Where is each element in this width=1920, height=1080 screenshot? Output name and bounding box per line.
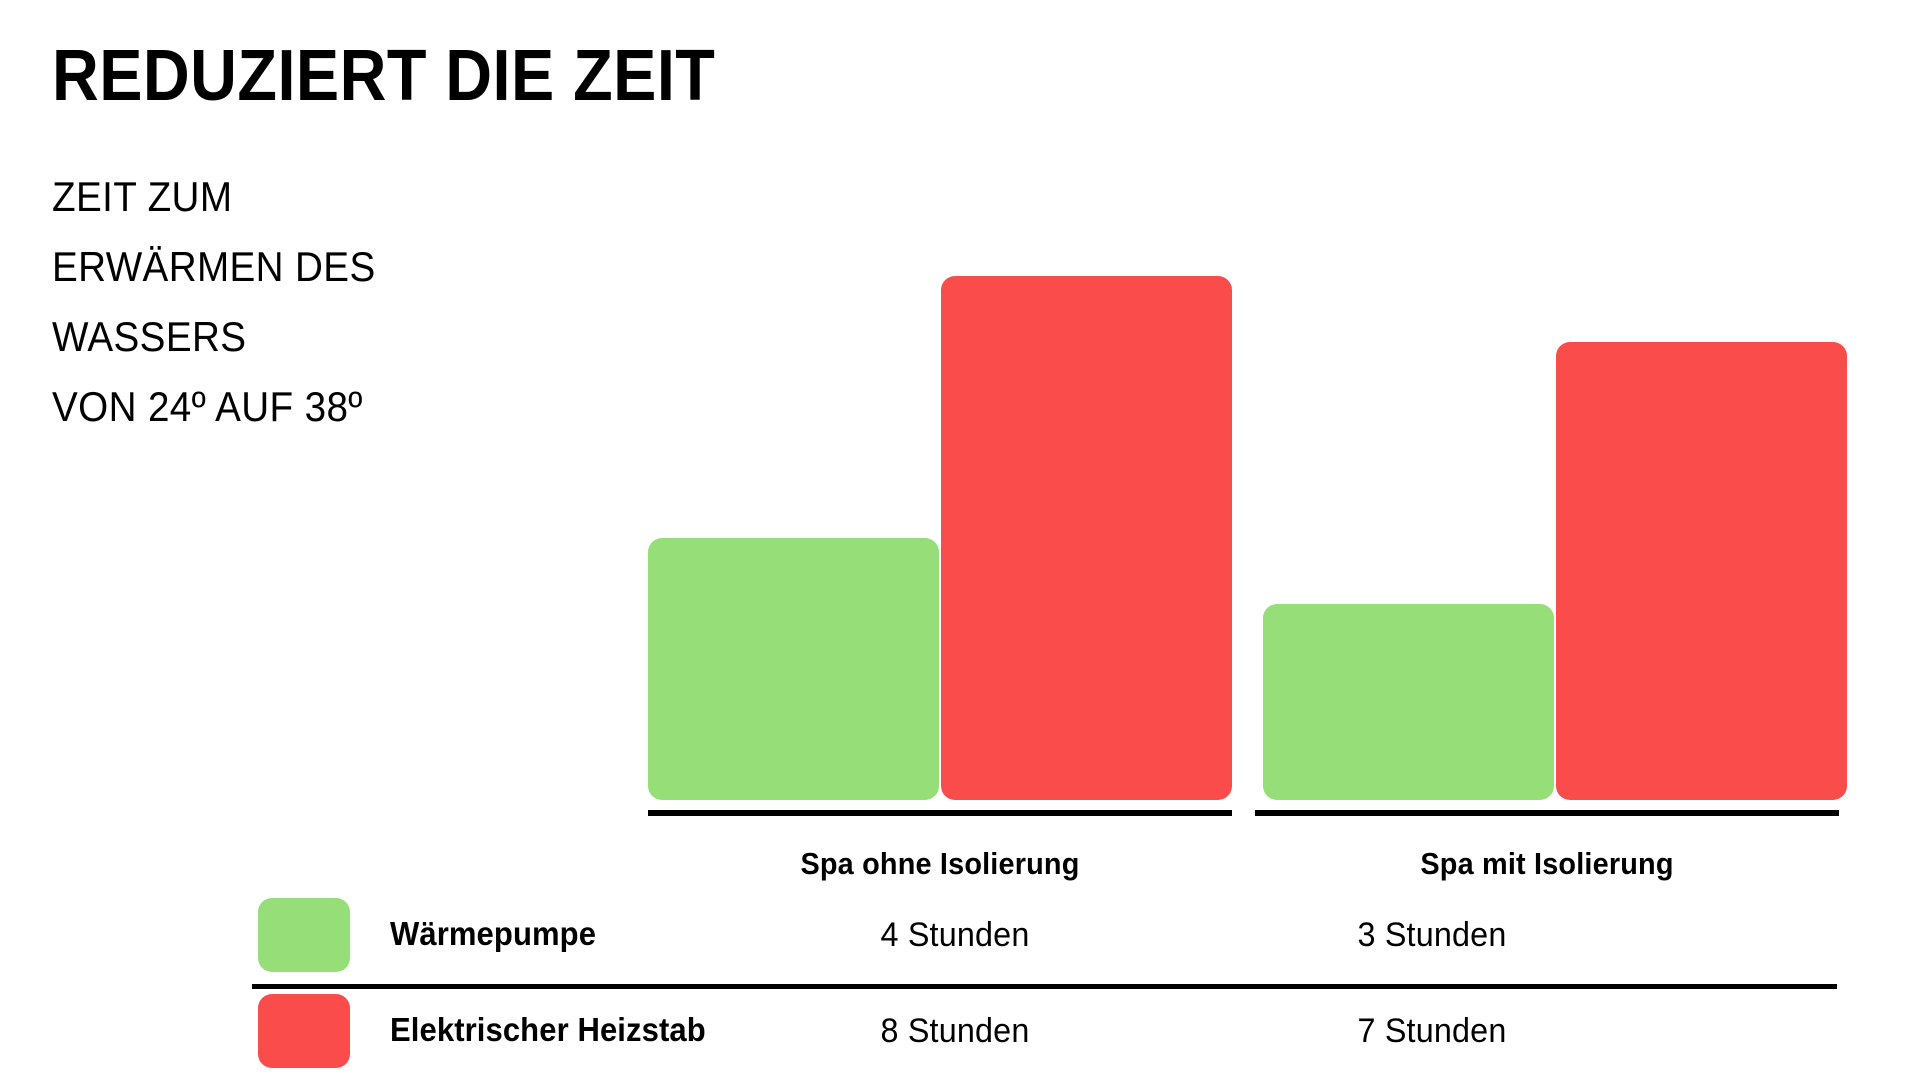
subtitle-line-4: VON 24º AUF 38º — [52, 372, 806, 442]
bar-heat-pump-group-0 — [648, 538, 939, 800]
subtitle-line-1: ZEIT ZUM — [52, 162, 806, 232]
bar-heat-pump-group-1 — [1263, 604, 1554, 801]
legend-label-heat-pump: Wärmepumpe — [390, 912, 596, 956]
headline-block: REDUZIERT DIE ZEIT ZEIT ZUM ERWÄRMEN DES… — [52, 34, 872, 442]
group-baseline-0 — [648, 810, 1232, 816]
legend-row-electric-heater: Elektrischer Heizstab 8 Stunden 7 Stunde… — [0, 984, 1920, 1080]
legend-swatch-heat-pump — [258, 898, 350, 972]
bar-electric-heater-group-1 — [1556, 342, 1847, 801]
subtitle-line-2: ERWÄRMEN DES — [52, 232, 806, 302]
legend-label-electric-heater: Elektrischer Heizstab — [390, 1008, 706, 1052]
page-title: REDUZIERT DIE ZEIT — [52, 34, 790, 118]
group-label-1: Spa mit Isolierung — [1275, 846, 1818, 882]
subtitle-line-3: WASSERS — [52, 302, 806, 372]
value-heat-pump-with-insulation: 3 Stunden — [1233, 914, 1632, 956]
legend-row-heat-pump: Wärmepumpe 4 Stunden 3 Stunden — [0, 888, 1920, 984]
group-label-0: Spa ohne Isolierung — [668, 846, 1211, 882]
value-electric-heater-with-insulation: 7 Stunden — [1233, 1010, 1632, 1052]
legend-swatch-electric-heater — [258, 994, 350, 1068]
group-baseline-1 — [1255, 810, 1839, 816]
value-heat-pump-no-insulation: 4 Stunden — [756, 914, 1155, 956]
legend-table: Wärmepumpe 4 Stunden 3 Stunden Elektrisc… — [0, 888, 1920, 1080]
value-electric-heater-no-insulation: 8 Stunden — [756, 1010, 1155, 1052]
page-subtitle: ZEIT ZUM ERWÄRMEN DES WASSERS VON 24º AU… — [52, 162, 806, 442]
infographic-canvas: REDUZIERT DIE ZEIT ZEIT ZUM ERWÄRMEN DES… — [0, 0, 1920, 1080]
bar-electric-heater-group-0 — [941, 276, 1232, 800]
